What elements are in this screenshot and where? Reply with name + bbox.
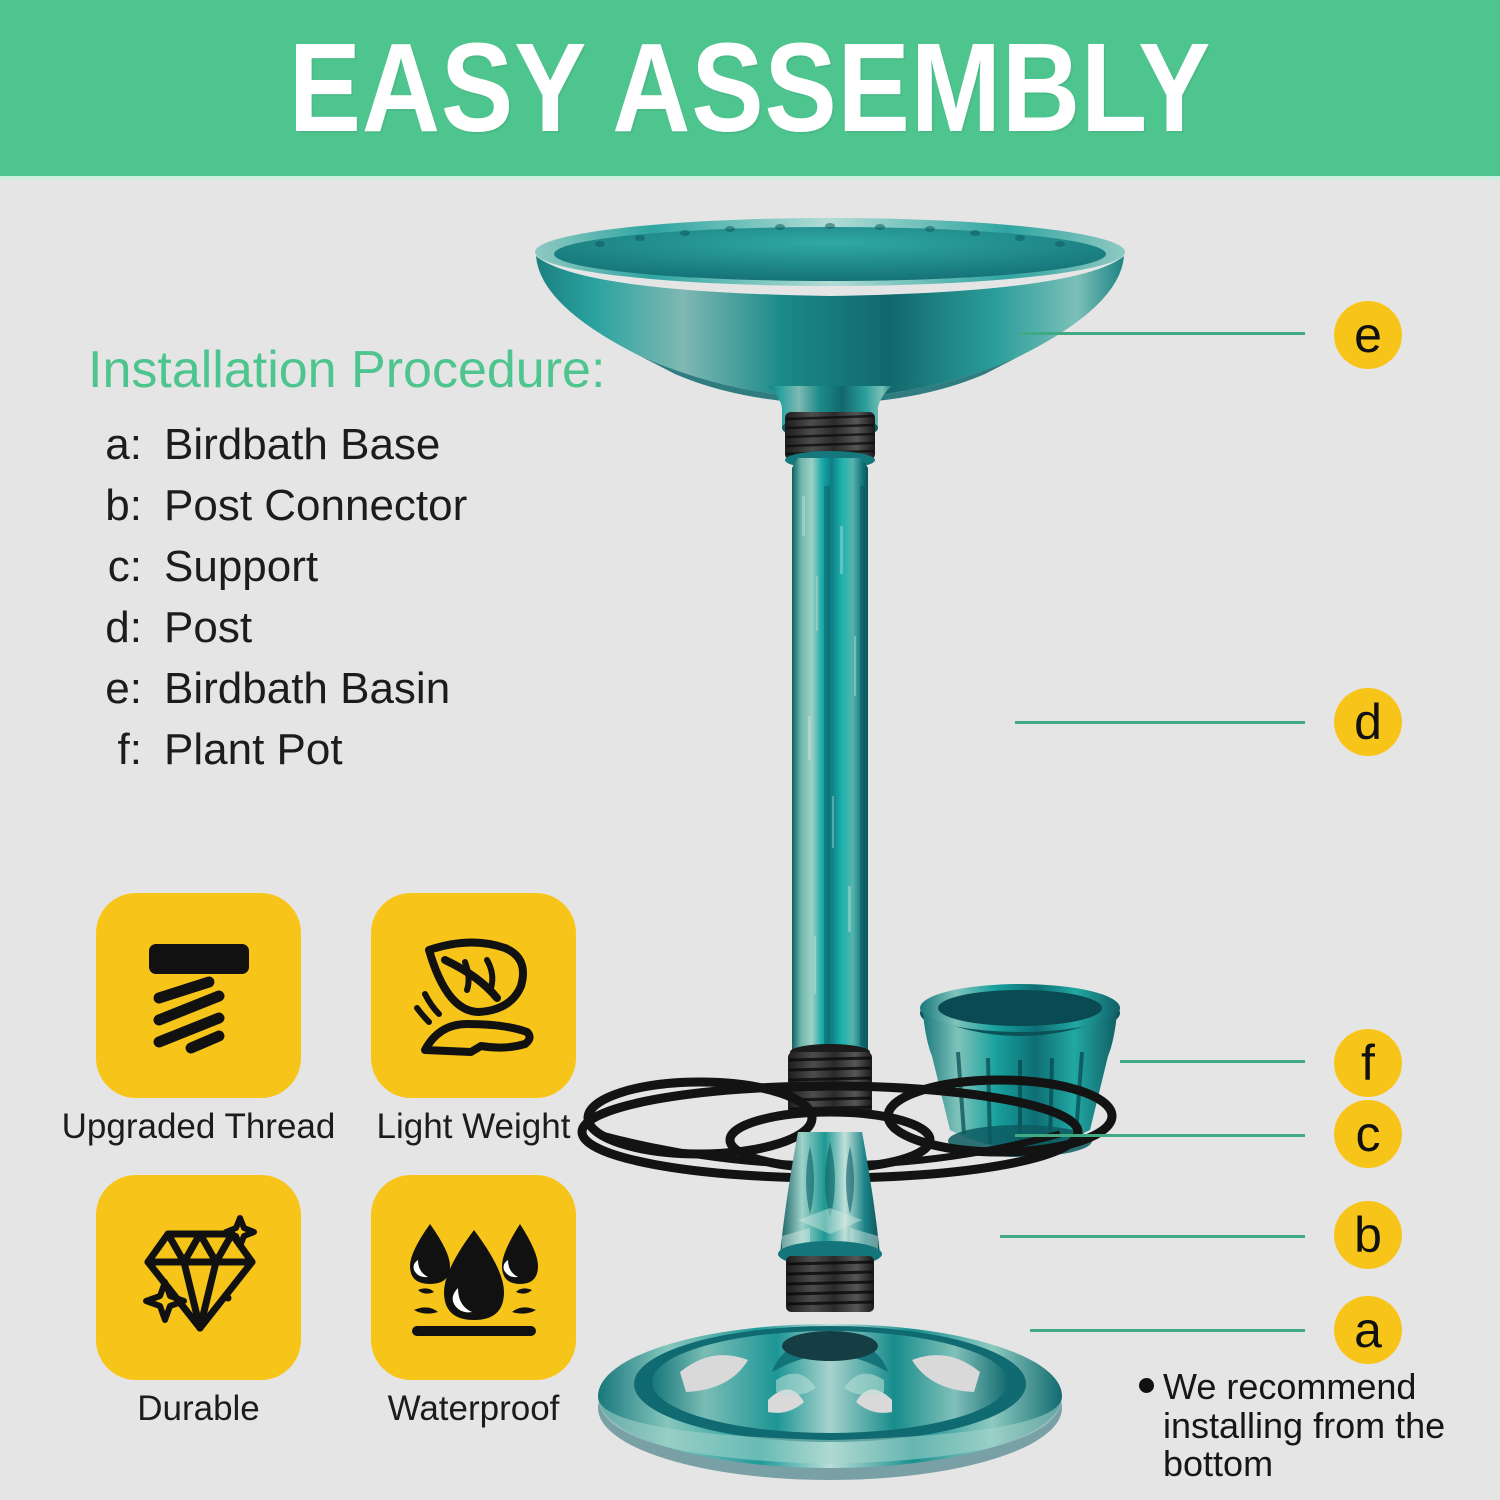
feature-durable: Durable: [96, 1175, 301, 1429]
leader-line-f: [1120, 1060, 1305, 1063]
procedure-key-c: c:: [90, 542, 164, 592]
water-droplets-icon: [408, 1214, 540, 1342]
bullet-icon: [1139, 1378, 1154, 1393]
feature-label-light-weight: Light Weight: [377, 1107, 571, 1147]
leader-line-c: [1015, 1134, 1305, 1137]
callout-badge-c[interactable]: c: [1334, 1100, 1402, 1168]
post-part: [792, 458, 868, 1051]
procedure-key-e: e:: [90, 664, 164, 714]
procedure-item-f: f: Plant Pot: [90, 725, 710, 786]
feature-light-weight: Light Weight: [371, 893, 576, 1147]
birdbath-basin-part: [535, 218, 1125, 440]
feature-row-bottom: Durable: [96, 1175, 596, 1429]
feature-badge-grid: Upgraded Thread: [96, 893, 596, 1457]
banner-underline: [0, 176, 1500, 180]
feature-badge-light-weight: [371, 893, 576, 1098]
page-title: EASY ASSEMBLY: [105, 0, 1395, 176]
feather-in-hand-icon: [409, 932, 539, 1060]
feature-waterproof: Waterproof: [371, 1175, 576, 1429]
procedure-key-f: f:: [90, 725, 164, 775]
screw-thread-icon: [135, 932, 263, 1060]
procedure-key-a: a:: [90, 420, 164, 470]
procedure-item-c: c: Support: [90, 542, 710, 603]
feature-row-top: Upgraded Thread: [96, 893, 596, 1147]
callout-badge-e[interactable]: e: [1334, 301, 1402, 369]
feature-badge-waterproof: [371, 1175, 576, 1380]
diamond-sparkle-icon: [134, 1214, 264, 1342]
callout-badge-d[interactable]: d: [1334, 688, 1402, 756]
connector-thread: [786, 1256, 874, 1312]
procedure-label-b: Post Connector: [164, 481, 710, 531]
plant-pot-part: [920, 984, 1120, 1157]
procedure-item-b: b: Post Connector: [90, 481, 710, 542]
leader-line-a: [1030, 1329, 1305, 1332]
feature-upgraded-thread: Upgraded Thread: [96, 893, 301, 1147]
procedure-label-d: Post: [164, 603, 710, 653]
infographic-page: EASY ASSEMBLY: [0, 0, 1500, 1500]
procedure-key-b: b:: [90, 481, 164, 531]
procedure-label-a: Birdbath Base: [164, 420, 710, 470]
callout-badge-f[interactable]: f: [1334, 1029, 1402, 1097]
feature-badge-upgraded-thread: [96, 893, 301, 1098]
post-connector-part: [778, 1132, 882, 1267]
leader-line-b: [1000, 1235, 1305, 1238]
feature-label-durable: Durable: [137, 1389, 260, 1429]
feature-label-upgraded-thread: Upgraded Thread: [62, 1107, 336, 1147]
callout-badge-a[interactable]: a: [1334, 1296, 1402, 1364]
feature-label-waterproof: Waterproof: [388, 1389, 560, 1429]
procedure-label-e: Birdbath Basin: [164, 664, 710, 714]
installation-procedure-list: a: Birdbath Base b: Post Connector c: Su…: [90, 420, 710, 786]
callout-badge-b[interactable]: b: [1334, 1201, 1402, 1269]
procedure-label-f: Plant Pot: [164, 725, 710, 775]
leader-line-e: [1020, 332, 1305, 335]
procedure-item-d: d: Post: [90, 603, 710, 664]
procedure-item-e: e: Birdbath Basin: [90, 664, 710, 725]
installation-procedure-heading: Installation Procedure:: [88, 340, 605, 400]
procedure-key-d: d:: [90, 603, 164, 653]
procedure-item-a: a: Birdbath Base: [90, 420, 710, 481]
birdbath-base-part: [598, 1324, 1062, 1480]
leader-line-d: [1015, 721, 1305, 724]
installation-note-text: We recommend installing from the bottom: [1163, 1368, 1493, 1484]
installation-note: We recommend installing from the bottom: [1163, 1368, 1493, 1484]
feature-badge-durable: [96, 1175, 301, 1380]
header-banner: EASY ASSEMBLY: [0, 0, 1500, 176]
procedure-label-c: Support: [164, 542, 710, 592]
